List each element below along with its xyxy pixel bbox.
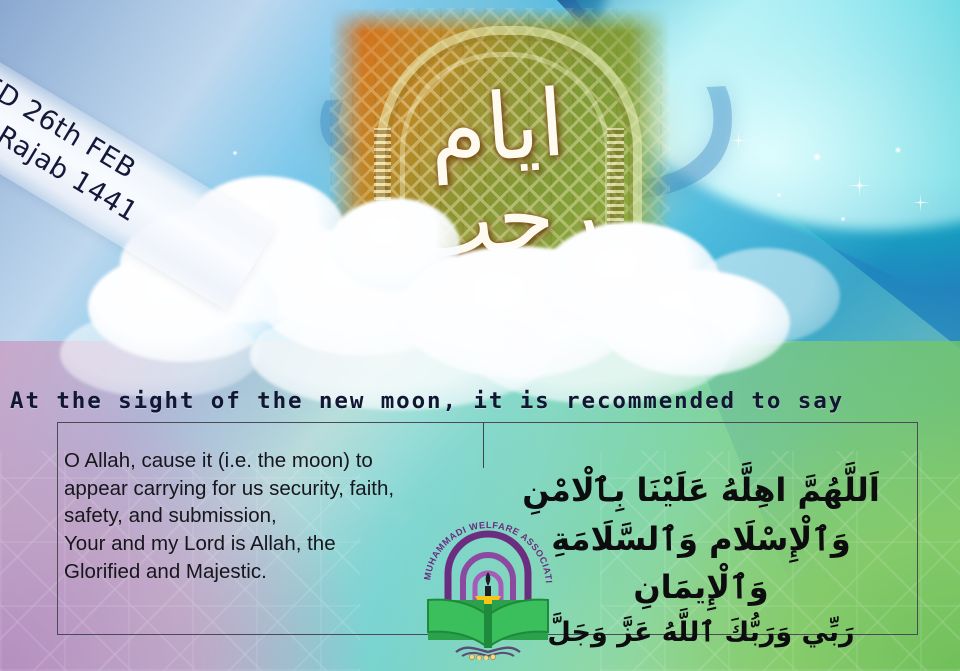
sparkle-star <box>300 232 306 238</box>
handshake-icon <box>456 648 520 652</box>
sparkle-star <box>776 192 782 198</box>
organisation-logo: MUHAMMADI WELFARE ASSOCIATION <box>418 500 558 660</box>
bead-icon <box>476 655 481 660</box>
sparkle-star <box>840 216 846 222</box>
bead-icon <box>469 654 474 659</box>
english-line: appear carrying for us security, faith, <box>64 475 464 503</box>
cloud <box>690 248 840 344</box>
cloud <box>60 310 260 398</box>
sparkle-star <box>736 138 741 143</box>
sparkle-star <box>812 152 822 162</box>
bead-icon <box>490 654 495 659</box>
lamp-stem-icon <box>485 586 491 596</box>
english-translation: O Allah, cause it (i.e. the moon) to app… <box>64 447 464 585</box>
english-line: Glorified and Majestic. <box>64 558 464 586</box>
rajab-announcement-poster: رجب ایام رجب WED 26th FEB 1st Rajab 1441 <box>0 0 960 671</box>
sparkle-star <box>918 200 923 205</box>
page-title: At the sight of the new moon, it is reco… <box>10 388 954 414</box>
sparkle-star <box>232 150 238 156</box>
sparkle-star <box>856 182 863 189</box>
sparkle-star <box>268 188 277 197</box>
sparkle-star <box>894 146 902 154</box>
english-line: O Allah, cause it (i.e. the moon) to <box>64 447 464 475</box>
bead-icon <box>483 655 488 660</box>
book-spine-icon <box>484 604 492 648</box>
english-line: Your and my Lord is Allah, the <box>64 530 464 558</box>
english-line: safety, and submission, <box>64 502 464 530</box>
box-divider <box>483 422 484 468</box>
